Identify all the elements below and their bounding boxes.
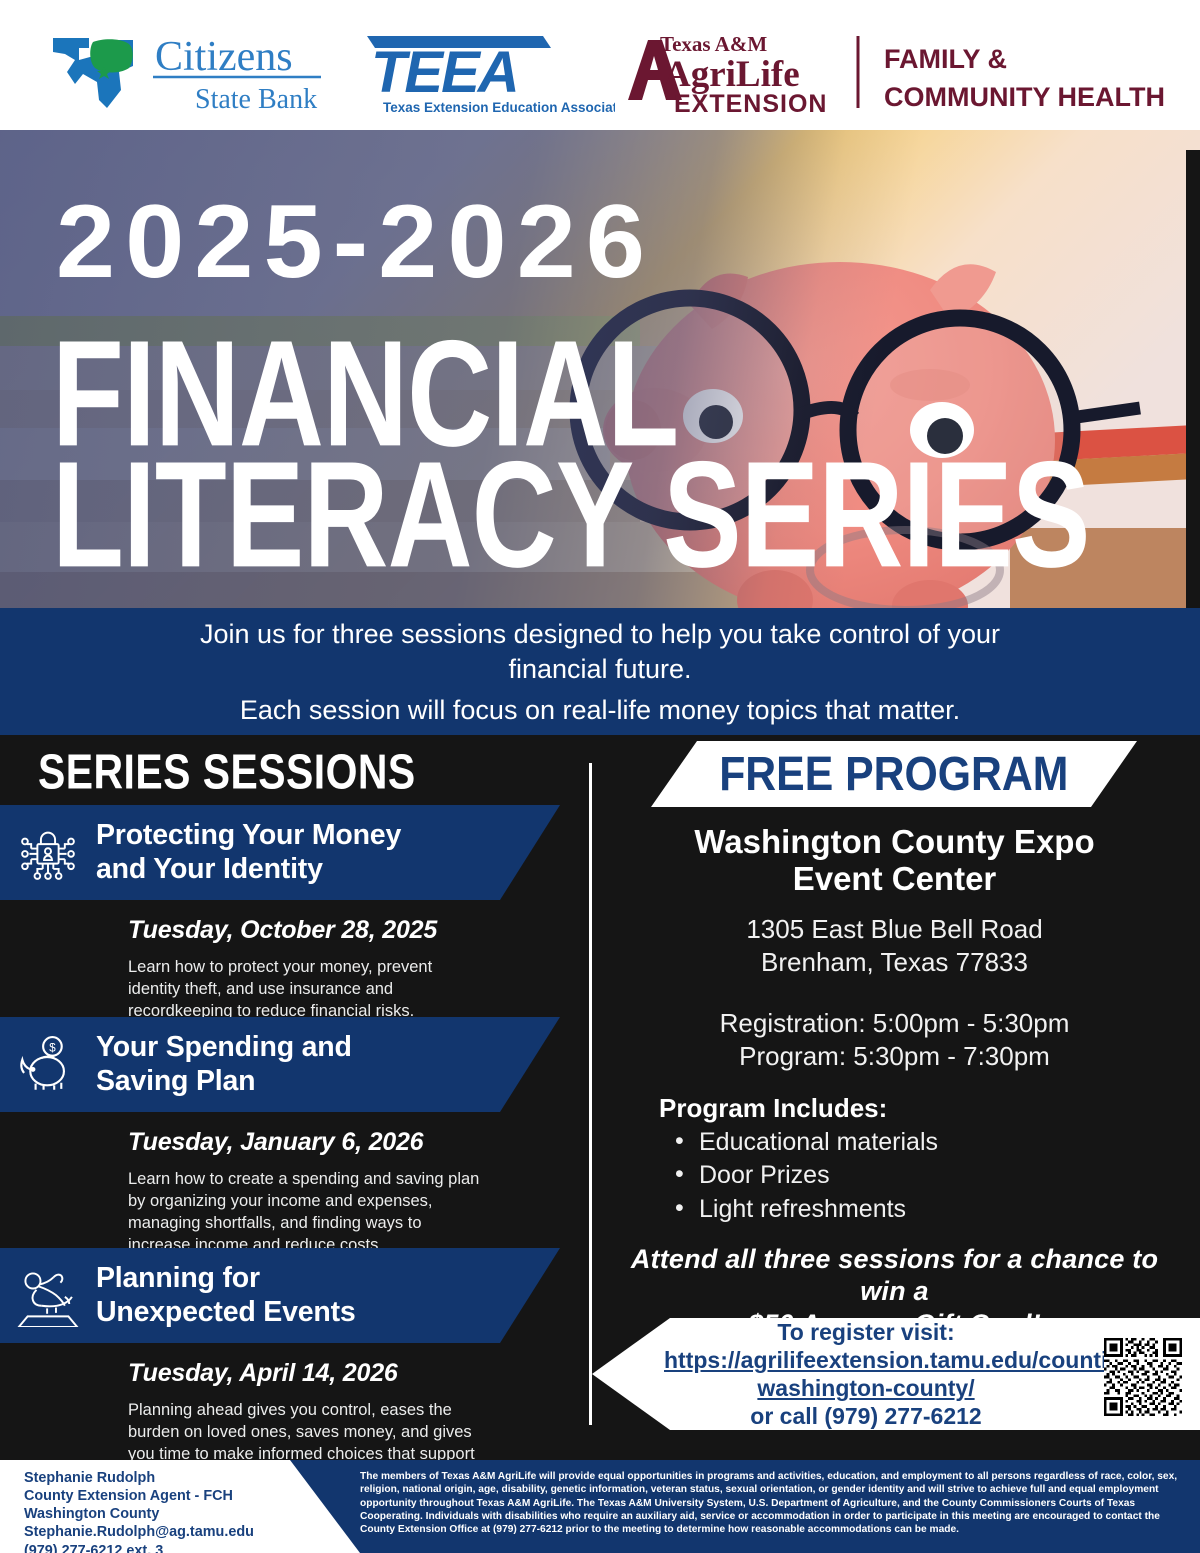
- flyer-page: Citizens State Bank TEEA Texas Extension…: [0, 0, 1200, 1553]
- registration-time: Registration: 5:00pm - 5:30pm: [609, 1007, 1180, 1040]
- venue-name: Washington County Expo Event Center: [609, 823, 1180, 898]
- session-card-1: Protecting Your Money and Your Identity …: [0, 805, 580, 1023]
- agrilife-text: AgriLife: [664, 54, 800, 95]
- session-3-banner: Planning for Unexpected Events: [0, 1248, 560, 1343]
- program-time: Program: 5:30pm - 7:30pm: [609, 1040, 1180, 1073]
- svg-text:$: $: [49, 1042, 56, 1054]
- teea-acronym: TEEA: [371, 40, 518, 105]
- venue-line-1: Washington County Expo: [609, 823, 1180, 860]
- hero-text-block: 2025-2026 FINANCIAL LITERACY SERIES Host…: [0, 130, 1200, 608]
- register-url-line2[interactable]: washington-county/: [664, 1374, 1068, 1402]
- piggy-bank-coin-icon: $: [0, 1017, 96, 1112]
- main-content: SERIES SESSIONS: [0, 735, 1200, 1460]
- session-1-title: Protecting Your Money and Your Identity: [96, 819, 415, 886]
- agrilife-logo-svg: Texas A&M AgriLife EXTENSION FAMILY & CO…: [622, 26, 1182, 118]
- contact-email[interactable]: Stephanie.Rudolph@ag.tamu.edu: [24, 1523, 254, 1541]
- register-banner[interactable]: To register visit: https://agrilifeexten…: [592, 1318, 1200, 1430]
- program-includes-heading: Program Includes:: [659, 1093, 1139, 1124]
- community-health-text: COMMUNITY HEALTH: [884, 82, 1165, 112]
- register-label: To register visit:: [664, 1318, 1068, 1346]
- intro-line-3: Each session will focus on real-life mon…: [240, 693, 960, 728]
- session-2-title-line1: Your Spending and: [96, 1031, 352, 1064]
- list-item: Door Prizes: [659, 1159, 1139, 1192]
- session-3-title-line2: Unexpected Events: [96, 1296, 356, 1329]
- session-3-title: Planning for Unexpected Events: [96, 1262, 370, 1329]
- event-times: Registration: 5:00pm - 5:30pm Program: 5…: [609, 1007, 1180, 1072]
- contact-name: Stephanie Rudolph: [24, 1469, 254, 1487]
- session-2-description: Learn how to create a spending and savin…: [128, 1169, 488, 1257]
- session-card-2: $ Your Spending and Saving Plan Tuesday,…: [0, 1017, 580, 1257]
- free-program-banner: FREE PROGRAM: [651, 741, 1137, 807]
- session-3-title-line1: Planning for: [96, 1262, 356, 1295]
- contact-phone: (979) 277-6212 ext. 3: [24, 1542, 254, 1553]
- agrilife-extension-logo: Texas A&M AgriLife EXTENSION FAMILY & CO…: [622, 26, 1182, 118]
- county-highlight: [90, 39, 133, 72]
- contact-block: Stephanie Rudolph County Extension Agent…: [24, 1469, 254, 1553]
- list-item: Light refreshments: [659, 1193, 1139, 1226]
- address-line-2: Brenham, Texas 77833: [609, 946, 1180, 979]
- program-includes: Program Includes: Educational materials …: [659, 1093, 1139, 1226]
- session-2-title-line2: Saving Plan: [96, 1065, 352, 1098]
- prize-line-1: Attend all three sessions for a chance t…: [609, 1243, 1180, 1308]
- free-program-label: FREE PROGRAM: [719, 746, 1068, 802]
- citizens-state-bank-logo: Citizens State Bank: [45, 26, 335, 116]
- session-card-3: Planning for Unexpected Events Tuesday, …: [0, 1248, 580, 1488]
- state-bank-wordmark: State Bank: [195, 84, 317, 115]
- session-1-description: Learn how to protect your money, prevent…: [128, 957, 488, 1023]
- hero-banner: 2025-2026 FINANCIAL LITERACY SERIES Host…: [0, 130, 1200, 608]
- citizens-logo-svg: Citizens State Bank: [45, 26, 335, 116]
- program-includes-list: Educational materials Door Prizes Light …: [659, 1126, 1139, 1226]
- venue-address: 1305 East Blue Bell Road Brenham, Texas …: [609, 913, 1180, 980]
- session-2-banner: $ Your Spending and Saving Plan: [0, 1017, 560, 1112]
- session-3-date: Tuesday, April 14, 2026: [128, 1359, 580, 1388]
- intro-line-1: Join us for three sessions designed to h…: [200, 617, 1000, 652]
- logo-bar: Citizens State Bank TEEA Texas Extension…: [0, 0, 1200, 130]
- qr-code[interactable]: [1104, 1338, 1182, 1416]
- contact-title: County Extension Agent - FCH: [24, 1487, 254, 1505]
- venue-line-2: Event Center: [609, 860, 1180, 897]
- session-2-title: Your Spending and Saving Plan: [96, 1031, 366, 1098]
- extension-text: EXTENSION: [674, 90, 827, 118]
- session-1-title-line1: Protecting Your Money: [96, 819, 401, 852]
- equal-opportunity-disclaimer: The members of Texas A&M AgriLife will p…: [360, 1470, 1180, 1536]
- session-1-title-line2: and Your Identity: [96, 853, 401, 886]
- contact-county: Washington County: [24, 1505, 254, 1523]
- footer-bar: Stephanie Rudolph County Extension Agent…: [0, 1460, 1200, 1553]
- list-item: Educational materials: [659, 1126, 1139, 1159]
- citizens-wordmark: Citizens: [155, 34, 293, 80]
- hero-title-line2: LITERACY SERIES: [52, 446, 1090, 585]
- intro-line-2: financial future.: [508, 652, 691, 687]
- texas-am-text: Texas A&M: [660, 32, 767, 56]
- hero-years: 2025-2026: [56, 190, 655, 294]
- person-slipping-accident-icon: [0, 1248, 96, 1343]
- address-line-1: 1305 East Blue Bell Road: [609, 913, 1180, 946]
- intro-band: Join us for three sessions designed to h…: [0, 608, 1200, 735]
- program-info-column: FREE PROGRAM Washington County Expo Even…: [589, 735, 1200, 1460]
- family-text: FAMILY &: [884, 44, 1007, 74]
- session-2-date: Tuesday, January 6, 2026: [128, 1128, 580, 1157]
- session-1-banner: Protecting Your Money and Your Identity: [0, 805, 560, 900]
- teea-full-name: Texas Extension Education Association, I…: [383, 100, 615, 115]
- series-sessions-heading: SERIES SESSIONS: [38, 745, 416, 801]
- padlock-identity-protection-icon: [0, 805, 96, 900]
- register-text-block: To register visit: https://agrilifeexten…: [664, 1318, 1068, 1430]
- register-phone: or call (979) 277-6212: [664, 1402, 1068, 1430]
- register-url-line1[interactable]: https://agrilifeextension.tamu.edu/count…: [664, 1346, 1068, 1374]
- teea-logo-svg: TEEA Texas Extension Education Associati…: [365, 30, 615, 118]
- teea-logo: TEEA Texas Extension Education Associati…: [365, 30, 615, 118]
- session-1-date: Tuesday, October 28, 2025: [128, 916, 580, 945]
